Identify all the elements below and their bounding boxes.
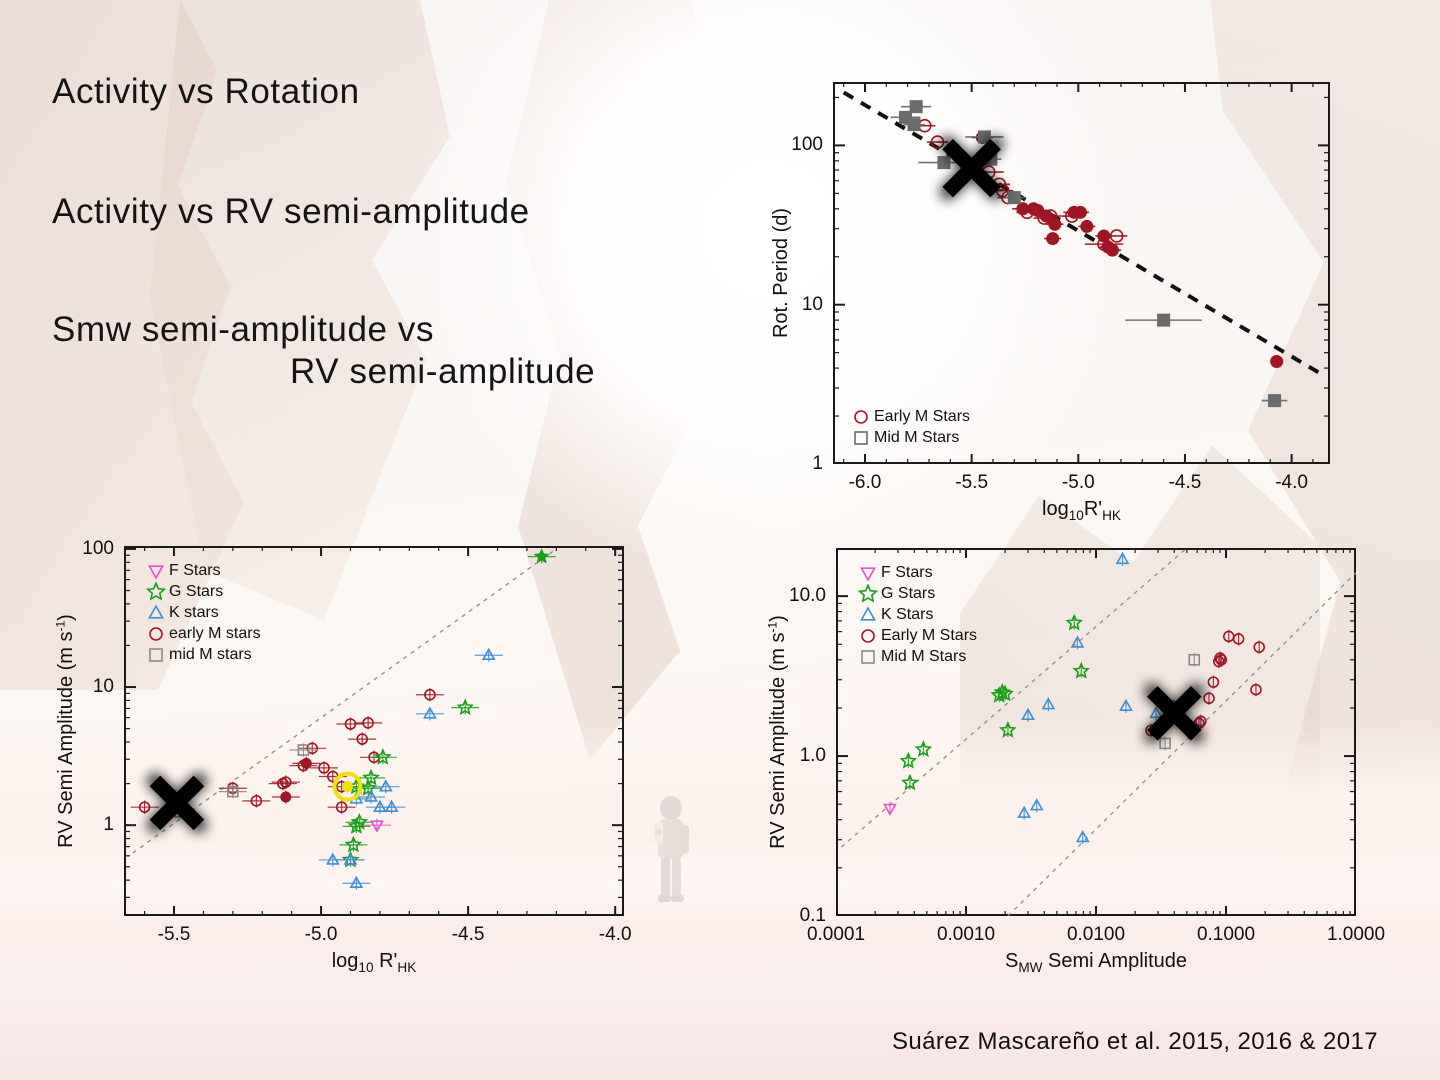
legend-label: early M stars [169, 625, 261, 643]
series-early-m-stars-filled- [972, 132, 1283, 368]
legend-label: F Stars [169, 562, 221, 580]
x-marker [155, 781, 199, 825]
plot-legend: F StarsG StarsK StarsEarly M StarsMid M … [858, 562, 977, 667]
chart-smw-vs-rv-semi-amplitude: 0.00010.00100.01000.10001.00000.11.010.0… [836, 548, 1356, 916]
series-k-stars [1019, 553, 1162, 844]
x-tick-label: 0.0001 [807, 924, 865, 946]
plot-legend: F StarsG StarsK starsearly M starsmid M … [146, 560, 261, 665]
x-axis-title: log10R'HK [1042, 498, 1121, 523]
y-axis-title: RV Semi Amplitude (m s-1) [53, 614, 78, 848]
legend-marker-icon [858, 584, 878, 604]
series-g-stars [336, 700, 479, 866]
legend-label: mid M stars [169, 646, 252, 664]
y-tick-label: 100 [791, 134, 823, 156]
legend-item: early M stars [146, 623, 261, 644]
legend-marker-icon [146, 645, 166, 665]
y-tick-label: 10 [93, 676, 114, 698]
legend-label: G Stars [169, 583, 223, 601]
y-tick-label: 1 [812, 453, 823, 475]
x-marker [948, 144, 996, 192]
y-axis-title: RV Semi Amplitude (m s-1) [765, 615, 790, 849]
legend-item: K stars [146, 602, 261, 623]
slide-line-4: RV semi-amplitude [290, 352, 595, 392]
legend-marker-icon [851, 428, 871, 448]
legend-marker-icon [858, 626, 878, 646]
series-f-stars [884, 802, 895, 815]
legend-item: F Stars [146, 560, 261, 581]
chart-activity-vs-rv-semi-amplitude: -5.5-5.0-4.5-4.0110100log10 R'HKRV Semi … [124, 546, 624, 916]
legend-label: G Stars [881, 585, 935, 603]
y-axis-title: Rot. Period (d) [770, 208, 793, 338]
chart-activity-vs-rotation: -6.0-5.5-5.0-4.5-4.0110100log10R'HKRot. … [833, 82, 1330, 464]
highlight-dot [343, 782, 353, 792]
legend-item: Early M Stars [851, 406, 970, 427]
legend-label: Early M Stars [874, 408, 970, 426]
legend-marker-icon [851, 407, 871, 427]
slide-line-3: Smw semi-amplitude vs [52, 310, 434, 350]
x-tick-label: -4.0 [1275, 472, 1308, 494]
y-tick-label: 10 [802, 294, 823, 316]
y-tick-label: 0.1 [800, 905, 826, 927]
x-tick-label: -5.5 [158, 924, 191, 946]
legend-marker-icon [146, 603, 166, 623]
y-tick-label: 1.0 [800, 745, 826, 767]
citation-credit: Suárez Mascareño et al. 2015, 2016 & 201… [892, 1028, 1378, 1056]
legend-marker-icon [146, 561, 166, 581]
legend-item: Mid M Stars [858, 646, 977, 667]
legend-marker-icon [858, 605, 878, 625]
legend-marker-icon [858, 647, 878, 667]
series-f-stars [363, 819, 391, 832]
x-tick-label: 0.0010 [937, 924, 995, 946]
legend-label: Mid M Stars [881, 648, 966, 666]
legend-item: G Stars [146, 581, 261, 602]
x-tick-label: -4.5 [452, 924, 485, 946]
x-tick-label: 0.1000 [1197, 924, 1255, 946]
x-tick-label: -4.5 [1169, 472, 1202, 494]
x-tick-label: -6.0 [849, 472, 882, 494]
series-g-star-filled-highlight- [528, 549, 556, 563]
series-k-stars [319, 649, 503, 890]
x-axis-title: log10 R'HK [332, 950, 417, 975]
legend-label: Early M Stars [881, 627, 977, 645]
x-tick-label: -5.0 [1062, 472, 1095, 494]
legend-item: mid M stars [146, 644, 261, 665]
fit-line [844, 92, 1324, 375]
x-tick-label: -5.0 [305, 924, 338, 946]
x-axis-title: SMW Semi Amplitude [1005, 950, 1187, 975]
legend-label: K Stars [881, 606, 933, 624]
x-tick-label: 1.0000 [1327, 924, 1385, 946]
y-tick-label: 1 [103, 814, 114, 836]
legend-label: K stars [169, 604, 219, 622]
legend-item: Mid M Stars [851, 427, 970, 448]
legend-marker-icon [146, 582, 166, 602]
slide-line-2: Activity vs RV semi-amplitude [52, 192, 530, 232]
legend-marker-icon [858, 563, 878, 583]
x-tick-label: 0.0100 [1067, 924, 1125, 946]
legend-label: F Stars [881, 564, 933, 582]
legend-item: G Stars [858, 583, 977, 604]
legend-item: F Stars [858, 562, 977, 583]
legend-item: Early M Stars [858, 625, 977, 646]
y-tick-label: 10.0 [789, 585, 826, 607]
plot-legend: Early M StarsMid M Stars [851, 406, 970, 448]
slide-line-1: Activity vs Rotation [52, 72, 360, 112]
legend-item: K Stars [858, 604, 977, 625]
y-tick-label: 100 [82, 538, 114, 560]
legend-label: Mid M Stars [874, 429, 959, 447]
x-tick-label: -5.5 [955, 472, 988, 494]
x-tick-label: -4.0 [599, 924, 632, 946]
fit-line [1008, 573, 1356, 916]
legend-marker-icon [146, 624, 166, 644]
